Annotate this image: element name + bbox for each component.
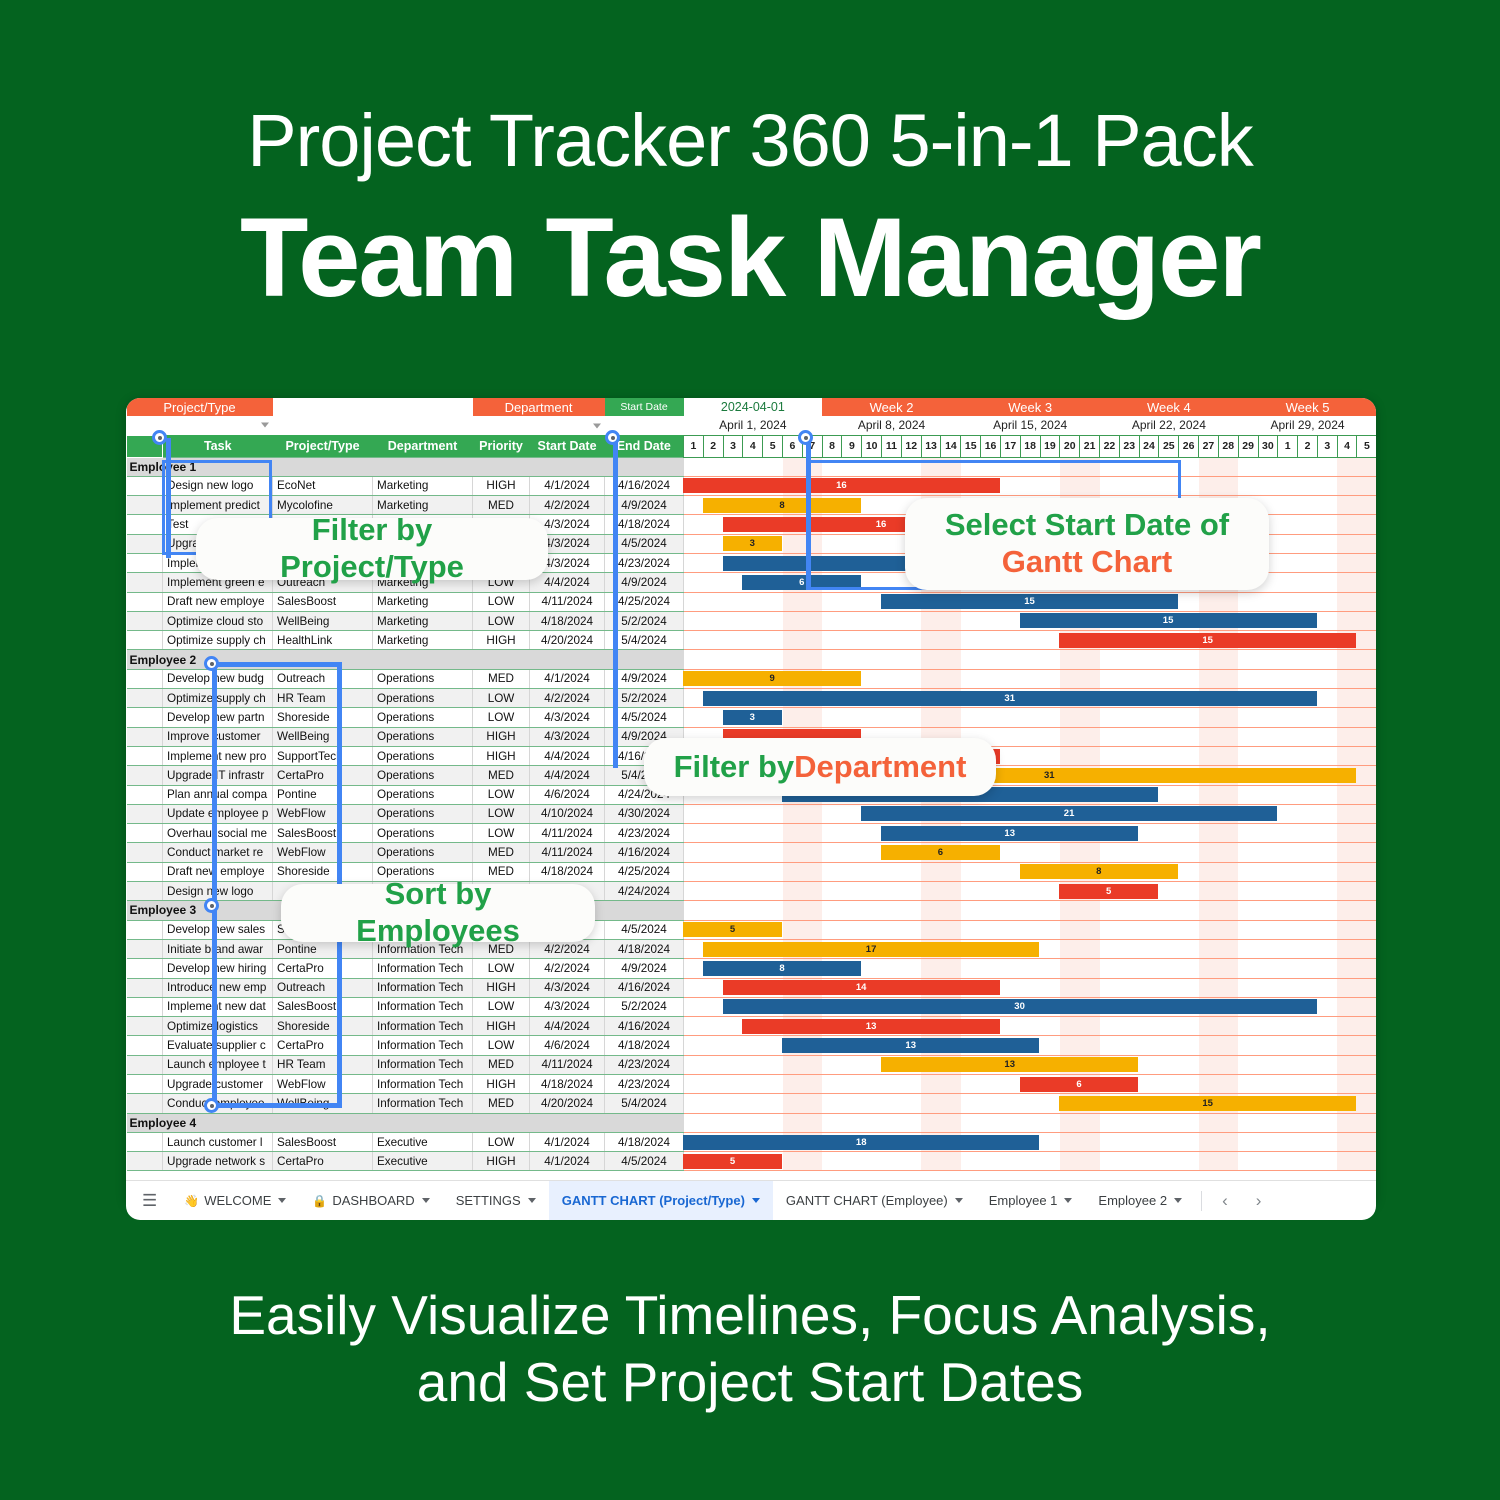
header-start-date: Start Date [530,435,605,457]
cell-department: Marketing [373,631,473,650]
day-cell [941,862,961,881]
day-cell [783,1132,803,1151]
cell-task: Upgrade network s [163,1152,273,1171]
day-cell [1337,476,1357,495]
day-cell [783,824,803,843]
day-cell [1278,959,1298,978]
group-day-cell [882,650,902,669]
group-day-cell [743,650,763,669]
day-cell [921,882,941,901]
day-cell [1337,959,1357,978]
cell-priority: LOW [473,592,530,611]
day-cell [1218,766,1238,785]
day-cell [703,804,723,823]
day-cell [941,978,961,997]
tab-welcome[interactable]: 👋WELCOME [171,1181,299,1221]
group-day-cell [723,650,743,669]
day-cell [1080,689,1100,708]
day-cell [862,1017,882,1036]
day-cell [1238,1152,1258,1171]
day-cell [1317,1132,1337,1151]
day-cell [1000,785,1020,804]
day-cell [822,496,842,515]
table-row[interactable]: Develop new hiringCertaProInformation Te… [127,959,1377,978]
group-day-cell [1317,901,1337,920]
day-cell [1298,689,1318,708]
day-cell [1139,476,1159,495]
day-cell [862,689,882,708]
table-row[interactable]: Optimize cloud stoWellBeingMarketingLOW4… [127,611,1377,630]
day-cell [1317,1017,1337,1036]
banner-project-type: Project/Type [127,398,273,416]
day-cell [1100,1017,1120,1036]
cell-task: Conduct employee [163,1094,273,1113]
day-cell [1100,1036,1120,1055]
day-cell [684,1036,704,1055]
day-cell [1218,669,1238,688]
project-type-filter-dropdown[interactable] [127,416,273,435]
day-cell [1238,804,1258,823]
group-day-cell [862,1113,882,1132]
day-cell [882,573,902,592]
table-row[interactable]: Launch employee tHR TeamInformation Tech… [127,1055,1377,1074]
day-cell [1298,496,1318,515]
tab-employee-1[interactable]: Employee 1 [976,1181,1086,1221]
day-cell [941,1132,961,1151]
row-index [127,1132,163,1151]
day-cell [961,1036,981,1055]
day-cell [802,476,822,495]
day-cell [783,708,803,727]
row-index [127,959,163,978]
chevron-down-icon[interactable] [528,1198,536,1203]
day-cell [783,1036,803,1055]
day-cell [743,553,763,572]
day-cell [1298,1132,1318,1151]
day-cell [842,573,862,592]
day-cell [1317,997,1337,1016]
day-cell [1337,997,1357,1016]
day-cell [684,1017,704,1036]
day-cell [1159,959,1179,978]
cell-project: SalesBoost [273,592,373,611]
cell-priority: HIGH [473,1075,530,1094]
group-day-cell [1278,650,1298,669]
day-cell [1159,766,1179,785]
day-header-16: 17 [1000,435,1020,457]
cell-task: Design new logo [163,476,273,495]
day-cell [703,920,723,939]
column-header-row: TaskProject/TypeDepartmentPriorityStart … [127,435,1377,457]
header-department: Department [373,435,473,457]
day-header-12: 13 [921,435,941,457]
row-index [127,553,163,572]
day-cell [1139,939,1159,958]
day-cell [743,862,763,881]
day-cell [822,573,842,592]
cell-start-date: 4/4/2024 [530,766,605,785]
cell-project: Outreach [273,978,373,997]
table-row[interactable]: Optimize logistics ShoresideInformation … [127,1017,1377,1036]
day-cell [822,843,842,862]
hamburger-icon[interactable]: ☰ [126,1191,171,1211]
day-cell [1060,804,1080,823]
group-day-cell [901,901,921,920]
day-cell [1159,978,1179,997]
table-row[interactable]: Develop new budgOutreachOperationsMED4/1… [127,669,1377,688]
day-cell [1238,882,1258,901]
day-cell [1060,824,1080,843]
day-cell [862,496,882,515]
chevron-down-icon[interactable] [1064,1198,1072,1203]
group-day-cell [1258,457,1278,476]
day-cell [1040,631,1060,650]
day-cell [862,611,882,630]
day-cell [921,959,941,978]
group-day-cell [743,1113,763,1132]
table-row[interactable]: Draft new employeSalesBoostMarketingLOW4… [127,592,1377,611]
day-cell [941,1152,961,1171]
day-cell [684,573,704,592]
day-cell [1298,611,1318,630]
table-row[interactable]: Introduce new empOutreachInformation Tec… [127,978,1377,997]
day-cell [1159,631,1179,650]
day-cell [1218,746,1238,765]
group-row[interactable]: Employee 4 [127,1113,1377,1132]
day-header-2: 3 [723,435,743,457]
day-cell [743,1094,763,1113]
day-cell [1159,882,1179,901]
day-cell [1040,920,1060,939]
group-day-cell [802,901,822,920]
day-cell [684,476,704,495]
day-cell [1258,766,1278,785]
day-cell [901,997,921,1016]
group-day-cell [684,650,704,669]
cell-start-date: 4/11/2024 [530,843,605,862]
day-cell [1060,611,1080,630]
day-cell [1337,862,1357,881]
day-cell [783,997,803,1016]
day-cell [1357,843,1376,862]
caption-line-1: Easily Visualize Timelines, Focus Analys… [0,1282,1500,1349]
day-cell [1000,939,1020,958]
day-cell [842,1036,862,1055]
day-cell [1317,824,1337,843]
day-cell [1238,476,1258,495]
chevron-down-icon[interactable] [1174,1198,1182,1203]
day-cell [941,689,961,708]
table-row[interactable]: Conduct market reWebFlowOperationsMED4/1… [127,843,1377,862]
day-cell [921,920,941,939]
group-day-cell [961,457,981,476]
day-cell [743,708,763,727]
day-cell [961,1055,981,1074]
day-cell [723,882,743,901]
day-cell [802,515,822,534]
day-cell [1060,746,1080,765]
day-cell [1317,515,1337,534]
day-cell [743,824,763,843]
cell-end-date: 4/9/2024 [605,496,684,515]
tab-label: DASHBOARD [332,1193,414,1208]
day-cell [1040,882,1060,901]
day-cell [1278,592,1298,611]
day-cell [961,1017,981,1036]
day-cell [981,862,1001,881]
day-cell [961,824,981,843]
day-cell [1298,939,1318,958]
chevron-down-icon[interactable] [752,1198,760,1203]
day-cell [981,1152,1001,1171]
group-day-cell [981,901,1001,920]
group-day-cell [763,901,783,920]
group-day-cell [1100,650,1120,669]
day-cell [1020,708,1040,727]
group-day-cell [703,457,723,476]
day-cell [1357,669,1376,688]
tab-gantt-chart-project-type[interactable]: GANTT CHART (Project/Type) [549,1181,773,1221]
day-cell [1080,785,1100,804]
day-cell [1317,669,1337,688]
day-cell [921,862,941,881]
day-cell [1199,1094,1219,1113]
day-cell [1258,669,1278,688]
group-day-cell [941,457,961,476]
table-row[interactable]: Upgrade network sCertaProExecutiveHIGH4/… [127,1152,1377,1171]
day-cell [981,1075,1001,1094]
cell-department: Information Tech [373,1036,473,1055]
chevron-down-icon[interactable] [278,1198,286,1203]
next-sheet-icon[interactable]: › [1242,1191,1276,1211]
day-cell [1020,997,1040,1016]
day-cell [1199,1152,1219,1171]
day-cell [743,496,763,515]
day-cell [1020,824,1040,843]
day-cell [1317,476,1337,495]
day-cell [1258,1075,1278,1094]
day-cell [1278,1055,1298,1074]
day-cell [981,824,1001,843]
day-cell [1040,1132,1060,1151]
day-cell [1060,476,1080,495]
banner-start-date-label: Start Date [605,398,684,416]
group-day-cell [1298,901,1318,920]
table-row[interactable]: Overhaul social meSalesBoostOperationsLO… [127,824,1377,843]
day-cell [822,1075,842,1094]
day-cell [961,882,981,901]
table-row[interactable]: Design new logoEcoNetMarketingHIGH4/1/20… [127,476,1377,495]
group-day-cell [981,1113,1001,1132]
day-cell [763,515,783,534]
callout-select-start-date: Select Start Date of Gantt Chart [905,498,1269,590]
group-day-cell [882,901,902,920]
cell-priority: LOW [473,824,530,843]
table-row[interactable]: Conduct employeeWellBeingInformation Tec… [127,1094,1377,1113]
day-cell [1020,882,1040,901]
day-cell [763,476,783,495]
table-row[interactable]: Upgrade customer WebFlowInformation Tech… [127,1075,1377,1094]
row-index [127,631,163,650]
day-cell [1337,804,1357,823]
day-cell [1278,1017,1298,1036]
day-cell [1139,592,1159,611]
chevron-down-icon[interactable] [955,1198,963,1203]
day-cell [1080,804,1100,823]
day-cell [802,496,822,515]
day-cell [723,978,743,997]
day-cell [921,1094,941,1113]
day-cell [1179,631,1199,650]
day-cell [1337,920,1357,939]
table-row[interactable]: Optimize supply chHR TeamOperationsLOW4/… [127,689,1377,708]
sheet-tab-bar[interactable]: ☰ 👋WELCOME🔒DASHBOARDSETTINGSGANTT CHART … [126,1180,1376,1220]
group-day-cell [1100,457,1120,476]
day-cell [1298,708,1318,727]
day-cell [1060,939,1080,958]
day-cell [802,573,822,592]
day-cell [1238,611,1258,630]
day-cell [1100,978,1120,997]
day-cell [842,939,862,958]
day-cell [1040,727,1060,746]
day-cell [862,978,882,997]
cell-end-date: 4/23/2024 [605,1075,684,1094]
day-cell [862,708,882,727]
day-cell [1159,727,1179,746]
cell-department: Operations [373,669,473,688]
day-cell [1040,746,1060,765]
day-cell [1218,939,1238,958]
day-cell [882,1132,902,1151]
day-cell [1199,804,1219,823]
day-cell [1357,611,1376,630]
day-cell [1278,573,1298,592]
day-cell [703,611,723,630]
day-cell [1139,689,1159,708]
day-cell [921,1152,941,1171]
day-cell [1139,631,1159,650]
table-row[interactable]: Develop new partnShoresideOperationsLOW4… [127,708,1377,727]
day-cell [684,611,704,630]
day-cell [882,611,902,630]
cell-start-date: 4/6/2024 [530,1036,605,1055]
group-row[interactable]: Employee 2 [127,650,1377,669]
row-index [127,1055,163,1074]
day-cell [1317,939,1337,958]
day-cell [684,631,704,650]
day-cell [703,1055,723,1074]
day-cell [703,553,723,572]
day-cell [862,669,882,688]
day-cell [1357,689,1376,708]
table-row[interactable]: Evaluate supplier cCertaProInformation T… [127,1036,1377,1055]
department-filter-dropdown[interactable] [473,416,605,435]
day-cell [1258,824,1278,843]
group-day-cell [783,650,803,669]
row-index [127,882,163,901]
chevron-down-icon[interactable] [422,1198,430,1203]
day-cell [723,1055,743,1074]
day-cell [783,1094,803,1113]
day-header-31: 2 [1298,435,1318,457]
group-day-cell [1040,457,1060,476]
day-cell [1060,843,1080,862]
week-banner-5: Week 5 [1238,398,1376,416]
tab-settings[interactable]: SETTINGS [443,1181,549,1221]
tab-employee-2[interactable]: Employee 2 [1085,1181,1195,1221]
day-cell [822,920,842,939]
day-cell [901,631,921,650]
day-cell [783,669,803,688]
table-row[interactable]: Launch customer lSalesBoostExecutiveLOW4… [127,1132,1377,1151]
table-row[interactable]: Update employee pWebFlowOperationsLOW4/1… [127,804,1377,823]
group-row[interactable]: Employee 1 [127,457,1377,476]
day-cell [723,476,743,495]
group-day-cell [1139,901,1159,920]
day-cell [1278,515,1298,534]
cell-priority: HIGH [473,1017,530,1036]
day-cell [941,1094,961,1113]
day-cell [1258,631,1278,650]
row-index [127,669,163,688]
group-day-cell [1000,457,1020,476]
cell-end-date: 4/18/2024 [605,515,684,534]
prev-sheet-icon[interactable]: ‹ [1208,1191,1242,1211]
day-cell [1100,727,1120,746]
day-cell [1317,785,1337,804]
day-cell [1298,1152,1318,1171]
group-day-cell [822,650,842,669]
group-day-cell [901,650,921,669]
cell-department: Information Tech [373,959,473,978]
group-day-cell [684,457,704,476]
day-cell [1000,611,1020,630]
day-cell [684,882,704,901]
group-day-cell [1040,650,1060,669]
day-cell [703,1132,723,1151]
table-row[interactable]: Optimize supply chHealthLinkMarketingHIG… [127,631,1377,650]
day-cell [981,920,1001,939]
day-cell [1278,804,1298,823]
chevron-down-icon [593,423,601,428]
day-cell [1139,862,1159,881]
tab-dashboard[interactable]: 🔒DASHBOARD [299,1181,442,1221]
day-cell [1337,631,1357,650]
day-cell [941,1075,961,1094]
day-cell [1159,1094,1179,1113]
day-cell [1000,959,1020,978]
day-cell [684,1075,704,1094]
day-cell [1139,1036,1159,1055]
day-cell [802,882,822,901]
day-cell [1199,631,1219,650]
day-cell [1298,862,1318,881]
row-index [127,766,163,785]
filter-dropdown-row[interactable]: April 1, 2024April 8, 2024April 15, 2024… [127,416,1377,435]
table-row[interactable]: Implement new datSalesBoostInformation T… [127,997,1377,1016]
day-cell [723,862,743,881]
day-cell [1100,862,1120,881]
day-cell [802,708,822,727]
cell-project: WebFlow [273,1075,373,1094]
tab-gantt-chart-employee[interactable]: GANTT CHART (Employee) [773,1181,976,1221]
day-cell [1100,804,1120,823]
day-cell [1278,669,1298,688]
row-index [127,804,163,823]
day-cell [1337,785,1357,804]
day-cell [1000,824,1020,843]
